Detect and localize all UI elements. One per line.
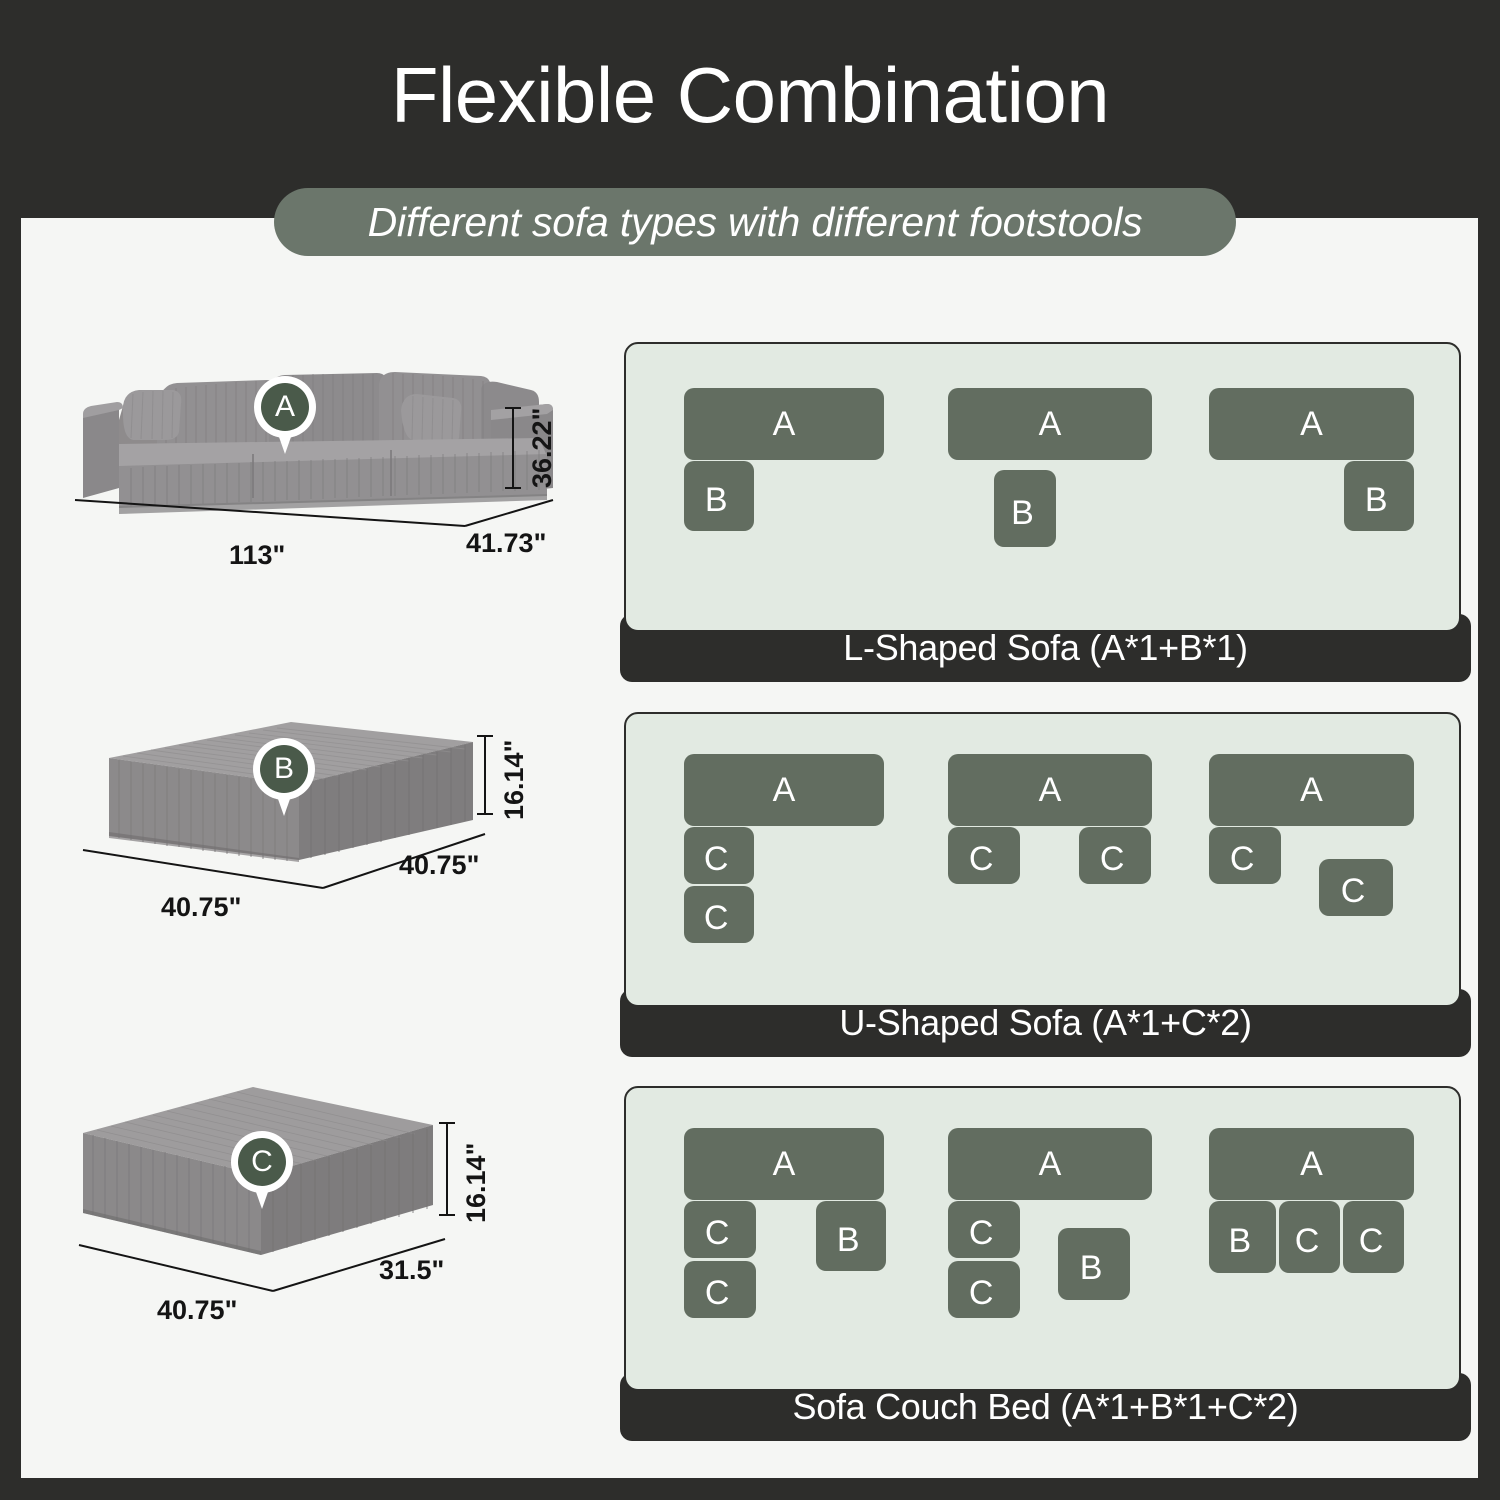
module-block-a[interactable]: A xyxy=(684,388,884,460)
module-block-b[interactable]: B xyxy=(1209,1201,1276,1273)
module-block-c[interactable]: C xyxy=(948,827,1020,884)
module-block-a[interactable]: A xyxy=(1209,1128,1414,1200)
module-block-c[interactable]: C xyxy=(1279,1201,1340,1273)
module-block-a[interactable]: A xyxy=(948,1128,1152,1200)
sofa-illustration xyxy=(61,348,581,558)
combination-body-u-shaped: A C C A C C A C C xyxy=(624,712,1461,1007)
module-block-c[interactable]: C xyxy=(684,1201,756,1258)
footstool-b-depth-label: 40.75" xyxy=(399,850,479,881)
module-block-c[interactable]: C xyxy=(1079,827,1151,884)
footstool-c-depth-label: 31.5" xyxy=(379,1255,444,1286)
module-block-a[interactable]: A xyxy=(1209,388,1414,460)
pin-letter-a: A xyxy=(261,383,309,431)
module-block-a[interactable]: A xyxy=(684,1128,884,1200)
marker-pin-c: C xyxy=(231,1131,293,1211)
footstool-b-height-label: 16.14" xyxy=(499,740,530,820)
module-block-b[interactable]: B xyxy=(1344,461,1414,531)
sofa-a-width-label: 113" xyxy=(229,540,285,571)
content-panel: A 113" 41.73" 36.22" xyxy=(21,218,1478,1478)
subtitle-pill: Different sofa types with different foot… xyxy=(274,188,1236,256)
sofa-a-height-label: 36.22" xyxy=(527,408,558,488)
combination-body-l-shaped: A B A B A B xyxy=(624,342,1461,632)
module-block-b[interactable]: B xyxy=(1058,1228,1130,1300)
combination-label-l-shaped: L-Shaped Sofa (A*1+B*1) xyxy=(843,627,1247,669)
footstool-c-illustration xyxy=(61,1073,581,1293)
module-block-a[interactable]: A xyxy=(948,388,1152,460)
marker-pin-a: A xyxy=(254,376,316,456)
module-block-a[interactable]: A xyxy=(684,754,884,826)
combination-label-u-shaped: U-Shaped Sofa (A*1+C*2) xyxy=(839,1002,1251,1044)
module-block-a[interactable]: A xyxy=(948,754,1152,826)
module-block-c[interactable]: C xyxy=(1343,1201,1404,1273)
module-block-a[interactable]: A xyxy=(1209,754,1414,826)
module-block-c[interactable]: C xyxy=(684,827,754,884)
header-banner: Flexible Combination xyxy=(0,0,1500,218)
module-block-c[interactable]: C xyxy=(948,1201,1020,1258)
combination-body-sofa-couch-bed: A C C B A C C B A B C C xyxy=(624,1086,1461,1391)
module-block-b[interactable]: B xyxy=(994,470,1056,547)
sofa-a-depth-label: 41.73" xyxy=(466,528,546,559)
subtitle-text: Different sofa types with different foot… xyxy=(368,199,1143,246)
pin-letter-c: C xyxy=(238,1138,286,1186)
module-block-b[interactable]: B xyxy=(816,1201,886,1271)
module-block-c[interactable]: C xyxy=(948,1261,1020,1318)
footstool-c-height-label: 16.14" xyxy=(461,1143,492,1223)
module-block-c[interactable]: C xyxy=(1319,859,1393,916)
pin-letter-b: B xyxy=(260,745,308,793)
module-block-c[interactable]: C xyxy=(684,1261,756,1318)
module-block-c[interactable]: C xyxy=(1209,827,1281,884)
footstool-c-width-label: 40.75" xyxy=(157,1295,237,1326)
module-block-b[interactable]: B xyxy=(684,461,754,531)
module-block-c[interactable]: C xyxy=(684,886,754,943)
footstool-b-width-label: 40.75" xyxy=(161,892,241,923)
page-title: Flexible Combination xyxy=(0,50,1500,140)
marker-pin-b: B xyxy=(253,738,315,818)
combination-label-sofa-couch-bed: Sofa Couch Bed (A*1+B*1+C*2) xyxy=(793,1386,1299,1428)
